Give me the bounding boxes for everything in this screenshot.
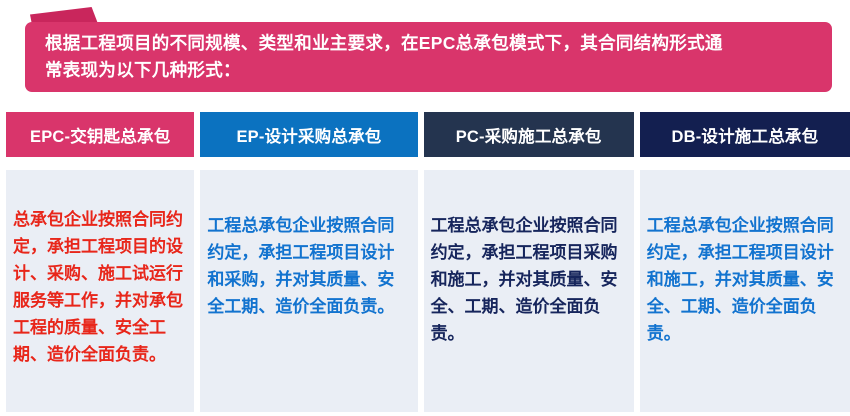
column-ep[interactable]: EP-设计采购总承包 工程总承包企业按照合同约定，承担工程项目设计和采购，并对其… [200, 112, 417, 412]
column-header-ep[interactable]: EP-设计采购总承包 [200, 112, 417, 157]
column-header-label-epc: EPC-交钥匙总承包 [30, 123, 170, 147]
column-header-db[interactable]: DB-设计施工总承包 [640, 112, 850, 157]
column-epc[interactable]: EPC-交钥匙总承包 总承包企业按照合同约定，承担工程项目的设计、采购、施工试运… [6, 112, 194, 412]
column-header-epc[interactable]: EPC-交钥匙总承包 [6, 112, 194, 157]
column-spacer-epc [6, 157, 194, 170]
contract-forms-columns: EPC-交钥匙总承包 总承包企业按照合同约定，承担工程项目的设计、采购、施工试运… [0, 112, 850, 416]
banner-line-2: 常表现为以下几种形式： [45, 57, 812, 84]
column-header-label-db: DB-设计施工总承包 [671, 123, 818, 147]
column-body-text-epc: 总承包企业按照合同约定，承担工程项目的设计、采购、施工试运行服务等工作，并对承包… [13, 206, 187, 368]
column-body-text-db: 工程总承包企业按照合同约定，承担工程项目设计和施工，并对其质量、安全、工期、造价… [647, 212, 843, 347]
column-body-pc: 工程总承包企业按照合同约定，承担工程项目采购和施工，并对其质量、安全、工期、造价… [424, 170, 634, 412]
column-db[interactable]: DB-设计施工总承包 工程总承包企业按照合同约定，承担工程项目设计和施工，并对其… [640, 112, 850, 412]
column-body-text-ep: 工程总承包企业按照合同约定，承担工程项目设计和采购，并对其质量、安全工期、造价全… [207, 212, 410, 320]
column-spacer-pc [424, 157, 634, 170]
column-body-text-pc: 工程总承包企业按照合同约定，承担工程项目采购和施工，并对其质量、安全、工期、造价… [431, 212, 627, 347]
column-spacer-db [640, 157, 850, 170]
column-header-label-ep: EP-设计采购总承包 [236, 123, 381, 147]
column-body-db: 工程总承包企业按照合同约定，承担工程项目设计和施工，并对其质量、安全、工期、造价… [640, 170, 850, 412]
column-body-ep: 工程总承包企业按照合同约定，承担工程项目设计和采购，并对其质量、安全工期、造价全… [200, 170, 417, 412]
column-header-label-pc: PC-采购施工总承包 [456, 123, 602, 147]
column-body-epc: 总承包企业按照合同约定，承担工程项目的设计、采购、施工试运行服务等工作，并对承包… [6, 170, 194, 412]
banner-line-1: 根据工程项目的不同规模、类型和业主要求，在EPC总承包模式下，其合同结构形式通 [45, 30, 812, 57]
banner-body: 根据工程项目的不同规模、类型和业主要求，在EPC总承包模式下，其合同结构形式通 … [25, 22, 832, 92]
header-banner: 根据工程项目的不同规模、类型和业主要求，在EPC总承包模式下，其合同结构形式通 … [0, 0, 850, 108]
column-header-pc[interactable]: PC-采购施工总承包 [424, 112, 634, 157]
column-spacer-ep [200, 157, 417, 170]
column-pc[interactable]: PC-采购施工总承包 工程总承包企业按照合同约定，承担工程项目采购和施工，并对其… [424, 112, 634, 412]
